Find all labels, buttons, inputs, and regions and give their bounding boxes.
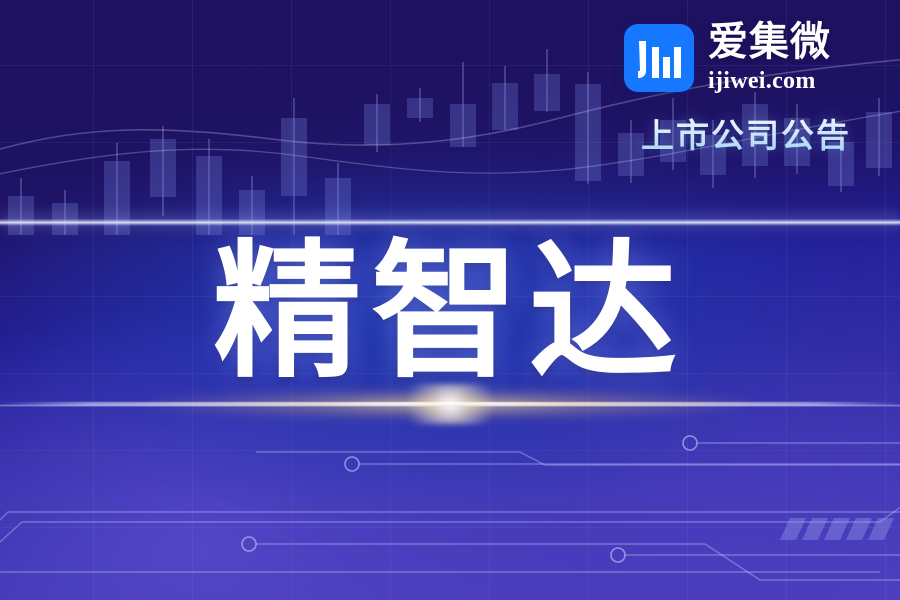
announcement-banner: 精智达 爱集微 ijiwei.com 上市公司公告 [0,0,900,600]
brand-name-cn: 爱集微 [708,22,831,62]
circuit-trace-decoration [0,400,900,600]
circuit-trace [256,544,900,580]
brand-block: 爱集微 ijiwei.com 上市公司公告 [616,22,876,157]
circuit-trace [0,486,900,560]
brand-row: 爱集微 ijiwei.com [616,22,876,93]
ijiwei-bars-logo-icon [624,24,694,92]
circuit-node-icon [345,457,359,471]
upper-light-streak [0,219,900,226]
brand-domain: ijiwei.com [708,69,831,93]
circuit-trace [256,452,900,465]
circuit-node-icon [611,548,625,562]
banner-subtitle: 上市公司公告 [616,109,876,157]
page-title: 精智达 [0,232,900,392]
brand-text: 爱集微 ijiwei.com [708,22,831,93]
circuit-trace [0,470,900,540]
circuit-node-icon [242,537,256,551]
circuit-node-icon [683,436,697,450]
